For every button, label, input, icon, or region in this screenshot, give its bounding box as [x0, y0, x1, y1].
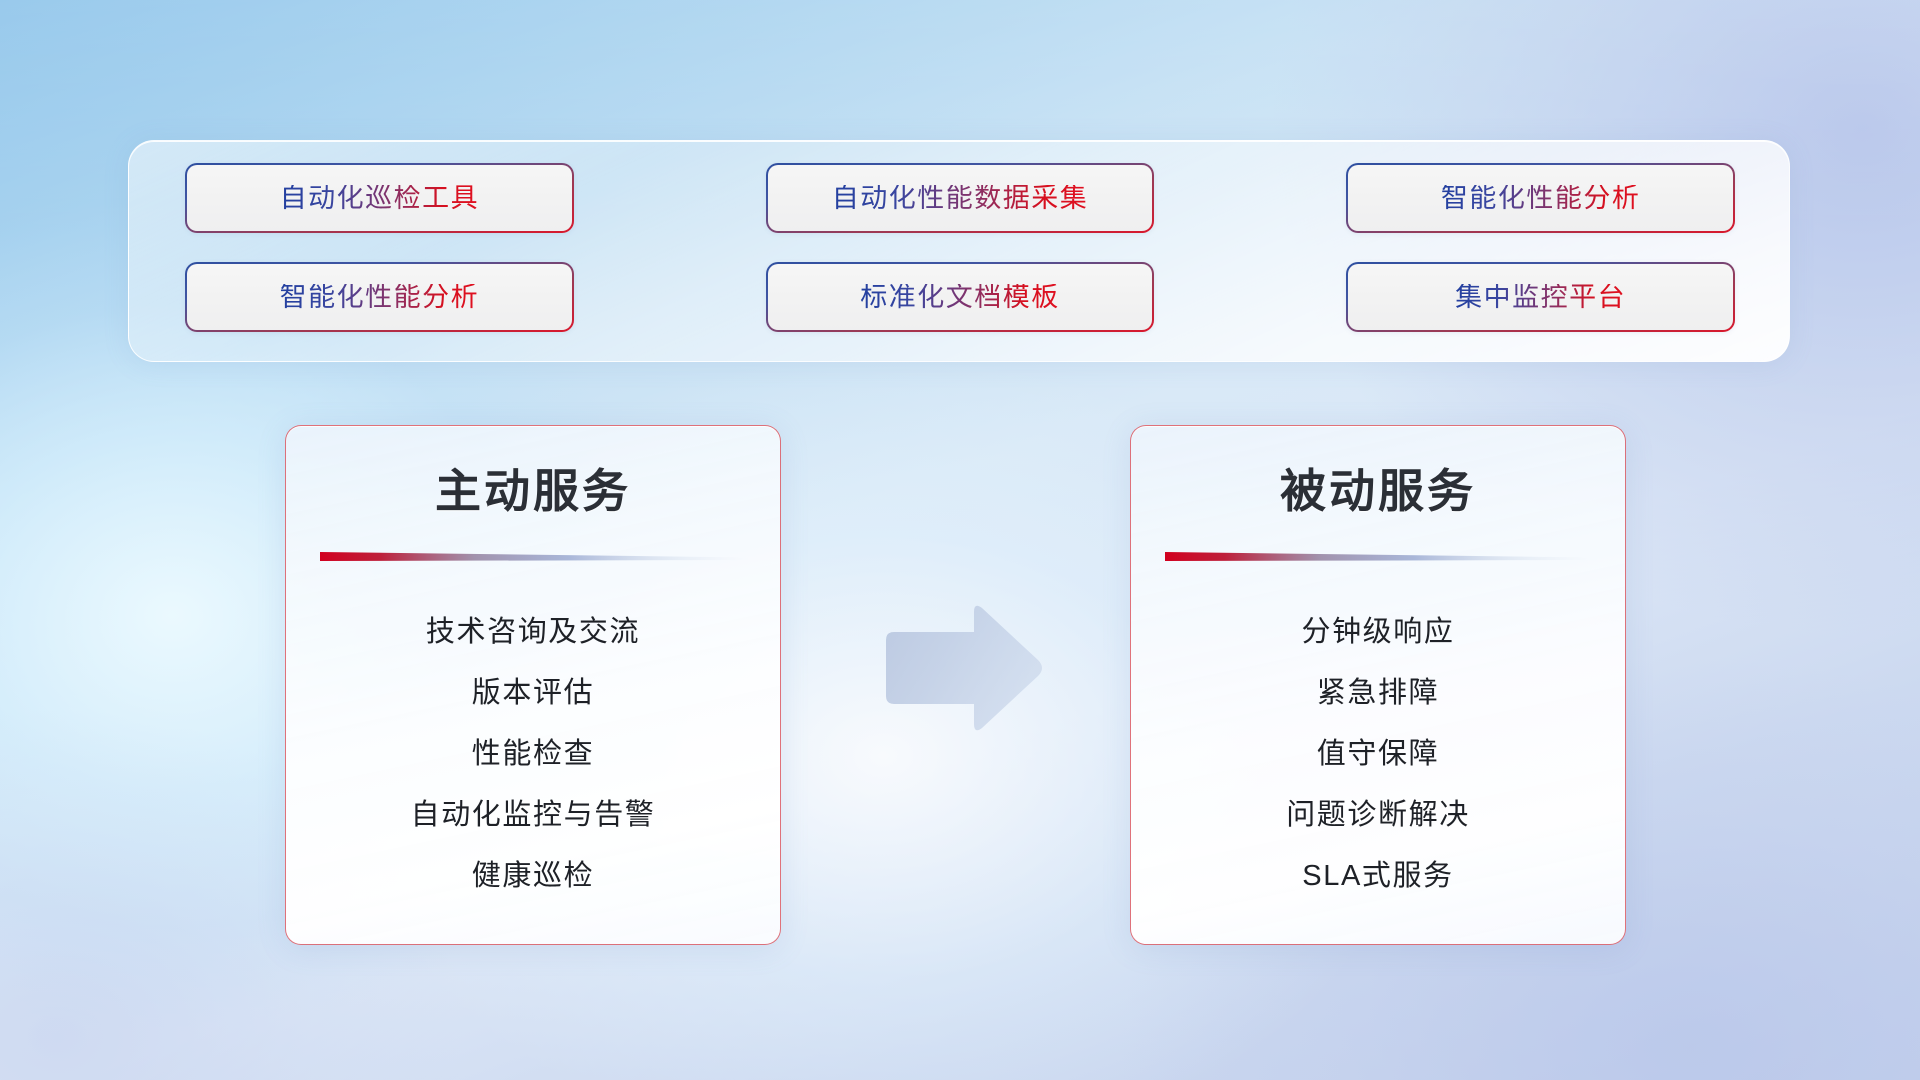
capability-panel: 自动化巡检工具 自动化性能数据采集 智能化性能分析 智能化性能分析: [128, 140, 1790, 362]
pill-inner: 标准化文档模板: [768, 264, 1153, 330]
card-items-proactive: 技术咨询及交流 版本评估 性能检查 自动化监控与告警 健康巡检: [286, 588, 780, 922]
card-item: 性能检查: [472, 739, 594, 771]
pill-inner: 智能化性能分析: [1348, 165, 1733, 231]
card-item: 问题诊断解决: [1286, 800, 1470, 832]
pill-inner: 智能化性能分析: [187, 264, 572, 330]
card-divider-reactive: [1165, 550, 1595, 564]
pill-inner: 集中监控平台: [1348, 264, 1733, 330]
card-divider-proactive: [320, 550, 750, 564]
capability-pill-intelligent-performance-analysis-top[interactable]: 智能化性能分析: [1346, 163, 1735, 233]
capability-pill-standardized-document-template[interactable]: 标准化文档模板: [766, 262, 1155, 332]
card-items-reactive: 分钟级响应 紧急排障 值守保障 问题诊断解决 SLA式服务: [1131, 588, 1625, 922]
card-item: 分钟级响应: [1301, 617, 1454, 649]
diagram-canvas: 自动化巡检工具 自动化性能数据采集 智能化性能分析 智能化性能分析: [0, 0, 1920, 1080]
service-card-proactive[interactable]: 主动服务 技术咨询及交流 版本评估 性能检查: [285, 425, 781, 945]
card-title-reactive: 被动服务: [1131, 466, 1625, 517]
pill-label: 自动化巡检工具: [280, 185, 480, 212]
capability-pill-centralized-monitoring-platform[interactable]: 集中监控平台: [1346, 262, 1735, 332]
card-item: 值守保障: [1317, 739, 1439, 771]
pill-label: 智能化性能分析: [280, 284, 480, 311]
pill-label: 标准化文档模板: [860, 284, 1060, 311]
service-card-reactive[interactable]: 被动服务 分钟级响应 紧急排障 值守保障: [1130, 425, 1626, 945]
card-item: 紧急排障: [1317, 678, 1439, 710]
card-item: 版本评估: [472, 678, 594, 710]
capability-pill-automated-performance-data-collection[interactable]: 自动化性能数据采集: [766, 163, 1155, 233]
pill-label: 集中监控平台: [1455, 284, 1626, 311]
pill-label: 自动化性能数据采集: [832, 185, 1089, 212]
card-item: 健康巡检: [472, 861, 594, 893]
card-item: 自动化监控与告警: [411, 800, 656, 832]
pill-inner: 自动化巡检工具: [187, 165, 572, 231]
capability-pill-intelligent-performance-analysis-bottom[interactable]: 智能化性能分析: [185, 262, 574, 332]
capability-pill-automated-inspection-tool[interactable]: 自动化巡检工具: [185, 163, 574, 233]
card-item: SLA式服务: [1302, 861, 1453, 893]
card-item: 技术咨询及交流: [426, 617, 640, 649]
pill-inner: 自动化性能数据采集: [768, 165, 1153, 231]
pill-label: 智能化性能分析: [1441, 185, 1641, 212]
card-title-proactive: 主动服务: [286, 466, 780, 517]
capability-pill-grid: 自动化巡检工具 自动化性能数据采集 智能化性能分析 智能化性能分析: [185, 163, 1735, 341]
arrow-right-icon: [878, 600, 1046, 738]
